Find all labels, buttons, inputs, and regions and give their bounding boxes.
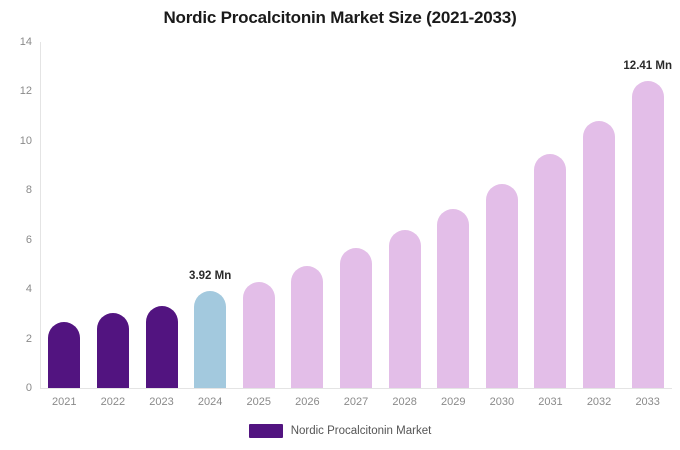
- bar-group[interactable]: [389, 230, 421, 388]
- chart-title: Nordic Procalcitonin Market Size (2021-2…: [0, 8, 680, 28]
- bar-group[interactable]: [340, 248, 372, 388]
- y-axis-line: [40, 42, 41, 388]
- bar-group[interactable]: [48, 322, 80, 388]
- bar[interactable]: [291, 266, 323, 388]
- bar-group[interactable]: [534, 154, 566, 388]
- legend-label: Nordic Procalcitonin Market: [291, 425, 432, 437]
- y-axis-tick-label: 10: [0, 135, 32, 147]
- bar-group[interactable]: 12.41 Mn: [632, 81, 664, 388]
- bar-group[interactable]: [486, 184, 518, 388]
- bar[interactable]: [583, 121, 615, 388]
- legend-swatch: [249, 424, 283, 438]
- y-axis-tick-label: 6: [0, 234, 32, 246]
- bar-chart: Nordic Procalcitonin Market Size (2021-2…: [0, 0, 680, 450]
- x-axis-line: [40, 388, 672, 389]
- bar[interactable]: [243, 282, 275, 388]
- bar-group[interactable]: [437, 209, 469, 388]
- bar[interactable]: [48, 322, 80, 388]
- bar-group[interactable]: [97, 313, 129, 388]
- bar[interactable]: [389, 230, 421, 388]
- legend-item[interactable]: Nordic Procalcitonin Market: [249, 424, 432, 438]
- bar-value-label: 12.41 Mn: [623, 60, 672, 72]
- bar[interactable]: [146, 306, 178, 388]
- y-axis-tick-label: 0: [0, 382, 32, 394]
- bar[interactable]: [194, 291, 226, 388]
- bar-group[interactable]: 3.92 Mn: [194, 291, 226, 388]
- bar-group[interactable]: [583, 121, 615, 388]
- y-axis-tick-label: 2: [0, 333, 32, 345]
- bar[interactable]: [97, 313, 129, 388]
- chart-legend: Nordic Procalcitonin Market: [0, 424, 680, 438]
- bar-value-label: 3.92 Mn: [189, 270, 231, 282]
- y-axis-tick-label: 4: [0, 283, 32, 295]
- y-axis-tick-label: 12: [0, 85, 32, 97]
- bar-group[interactable]: [291, 266, 323, 388]
- bar[interactable]: [486, 184, 518, 388]
- y-axis-tick-label: 8: [0, 184, 32, 196]
- bar[interactable]: [437, 209, 469, 388]
- y-axis-tick-label: 14: [0, 36, 32, 48]
- bar[interactable]: [340, 248, 372, 388]
- bar-group[interactable]: [146, 306, 178, 388]
- bar-group[interactable]: [243, 282, 275, 388]
- x-axis-tick-label: 2033: [618, 396, 678, 408]
- bar[interactable]: [534, 154, 566, 388]
- bar[interactable]: [632, 81, 664, 388]
